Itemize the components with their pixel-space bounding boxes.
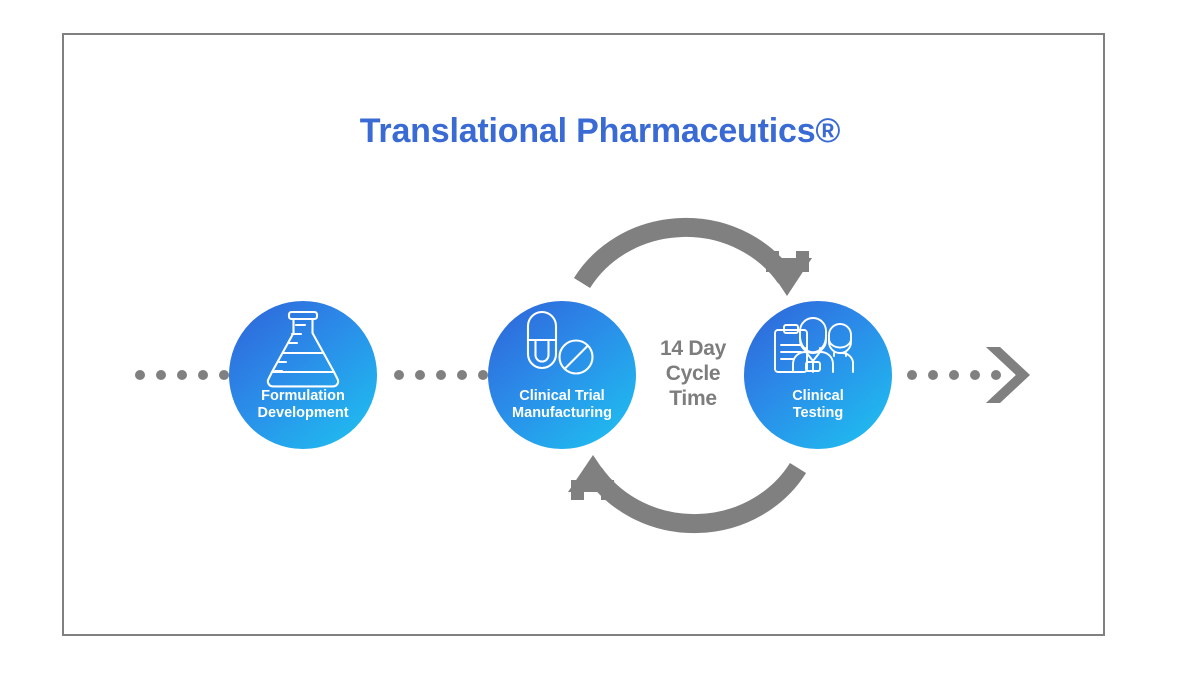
node-formulation-development[interactable]: Formulation Development [229,301,377,449]
cycle-arrow-bottom [568,455,798,524]
node-clinical-trial-manufacturing[interactable]: Clinical Trial Manufacturing [488,301,636,449]
exit-dots [907,370,1001,380]
node-clinical-testing[interactable]: Clinical Testing [744,301,892,449]
cycle-time-line3: Time [628,386,758,411]
cycle-time-line1: 14 Day [628,336,758,361]
diagram-canvas: Translational Pharmaceutics® [0,0,1200,675]
node-label-line2: Manufacturing [512,405,612,421]
cycle-time-line2: Cycle [628,361,758,386]
cycle-arrow-top [582,227,812,296]
cycle-time-text: 14 Day Cycle Time [628,336,758,411]
node-label-line1: Formulation [261,388,345,404]
node-label-line2: Testing [793,405,843,421]
node-label-line1: Clinical Trial [519,388,604,404]
node-label-line1: Clinical [792,388,844,404]
process-cycle-diagram: Formulation Development Clinical Trial M… [0,0,1200,675]
node-label-line2: Development [257,405,348,421]
